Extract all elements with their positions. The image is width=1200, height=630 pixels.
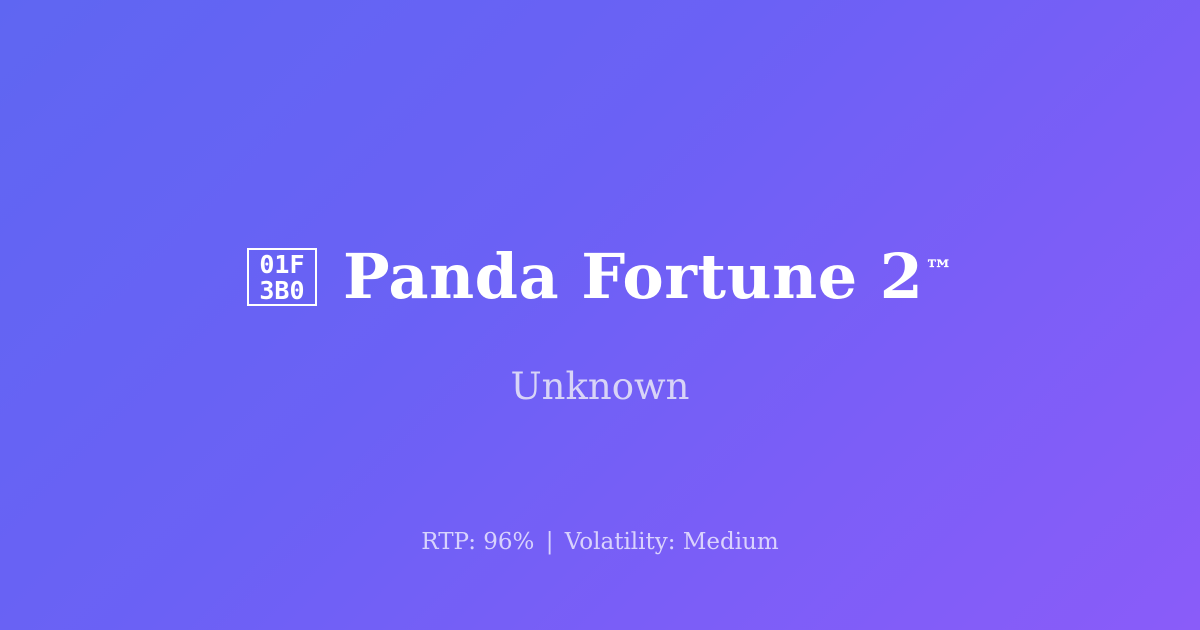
rtp-value: 96% <box>483 529 534 555</box>
trademark-symbol: ™ <box>925 256 954 285</box>
stats-separator: | <box>542 529 558 555</box>
game-preview-card: 01F 3B0 Panda Fortune 2™ Unknown RTP: 96… <box>0 0 1200 630</box>
page-title: Panda Fortune 2™ <box>343 241 953 313</box>
volatility-value: Medium <box>683 529 779 555</box>
game-title-text: Panda Fortune 2 <box>343 241 923 313</box>
volatility-label: Volatility: <box>565 529 676 555</box>
title-row: 01F 3B0 Panda Fortune 2™ <box>0 237 1200 317</box>
stats-footer: RTP: 96% | Volatility: Medium <box>0 526 1200 558</box>
codepoint-bottom: 3B0 <box>259 278 304 304</box>
codepoint-top: 01F <box>259 252 304 278</box>
slot-machine-icon: 01F 3B0 <box>247 248 317 306</box>
rtp-label: RTP: <box>421 529 476 555</box>
provider-subtitle: Unknown <box>0 363 1200 411</box>
